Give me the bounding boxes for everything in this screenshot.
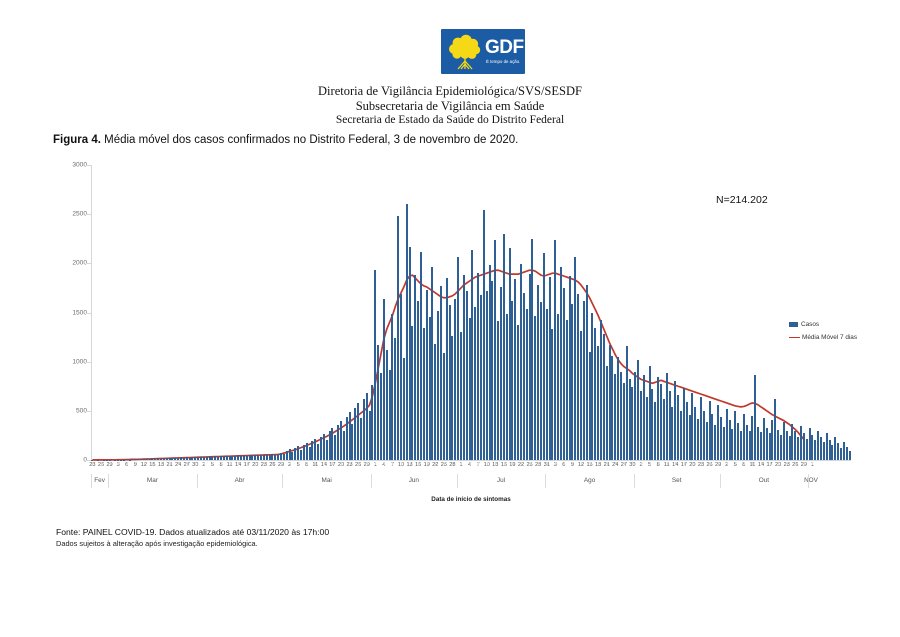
x-tick-mark bbox=[152, 462, 153, 465]
bar bbox=[829, 440, 831, 460]
bar bbox=[429, 317, 431, 460]
month-label-nov: NOV bbox=[804, 477, 818, 484]
bar bbox=[254, 455, 256, 460]
bar bbox=[743, 414, 745, 460]
month-divider bbox=[634, 474, 635, 488]
x-tick-mark bbox=[427, 462, 428, 465]
figure-label: Figura 4. bbox=[53, 134, 101, 146]
x-tick-mark bbox=[332, 462, 333, 465]
x-tick-mark bbox=[341, 462, 342, 465]
bar bbox=[349, 412, 351, 460]
bar bbox=[189, 458, 191, 460]
x-tick-mark bbox=[530, 462, 531, 465]
bar bbox=[400, 294, 402, 460]
x-tick-mark bbox=[127, 462, 128, 465]
source-line-2: Dados sujeitos à alteração após investig… bbox=[56, 538, 329, 549]
month-label-mai: Mai bbox=[322, 477, 332, 484]
org-line-1: Diretoria de Vigilância Epidemiológica/S… bbox=[0, 84, 900, 99]
bar bbox=[820, 437, 822, 460]
bar bbox=[729, 420, 731, 460]
bar bbox=[411, 326, 413, 460]
month-label-set: Set bbox=[672, 477, 682, 484]
bar bbox=[674, 381, 676, 460]
month-label-fev: Fev bbox=[94, 477, 105, 484]
bar bbox=[749, 431, 751, 460]
bar bbox=[454, 299, 456, 460]
bar bbox=[534, 316, 536, 460]
bar bbox=[771, 420, 773, 460]
bar bbox=[837, 443, 839, 460]
x-tick-mark bbox=[710, 462, 711, 465]
x-tick-mark bbox=[452, 462, 453, 465]
y-tick-label-1000: 1000 bbox=[72, 358, 87, 365]
x-tick-mark bbox=[410, 462, 411, 465]
bar bbox=[637, 360, 639, 460]
bar bbox=[146, 459, 148, 460]
y-tick-label-2500: 2500 bbox=[72, 211, 87, 218]
bar bbox=[494, 240, 496, 460]
bar bbox=[251, 455, 253, 460]
x-tick-mark bbox=[247, 462, 248, 465]
x-tick-mark bbox=[512, 462, 513, 465]
bar bbox=[537, 285, 539, 460]
bar bbox=[329, 431, 331, 460]
bar bbox=[657, 377, 659, 460]
bar bbox=[186, 457, 188, 460]
bar bbox=[514, 279, 516, 460]
bar bbox=[394, 338, 396, 460]
bar bbox=[706, 422, 708, 460]
bar bbox=[149, 459, 151, 460]
bar bbox=[774, 399, 776, 460]
x-tick-mark bbox=[272, 462, 273, 465]
bar bbox=[551, 329, 553, 460]
gdf-logo: GDF É tempo de ação. bbox=[441, 29, 525, 74]
bar bbox=[323, 434, 325, 460]
legend-item-casos: Casos bbox=[789, 321, 857, 328]
bar bbox=[469, 318, 471, 460]
month-divider bbox=[371, 474, 372, 488]
x-tick-mark bbox=[255, 462, 256, 465]
bar bbox=[331, 428, 333, 460]
bar bbox=[214, 456, 216, 460]
bar bbox=[286, 451, 288, 460]
bar bbox=[309, 447, 311, 460]
bar bbox=[200, 457, 202, 460]
x-tick-mark bbox=[787, 462, 788, 465]
bar bbox=[843, 442, 845, 460]
month-label-abr: Abr bbox=[235, 477, 245, 484]
x-tick-mark bbox=[812, 462, 813, 465]
bar bbox=[766, 428, 768, 460]
legend-line-swatch-icon bbox=[789, 337, 800, 339]
bar bbox=[374, 270, 376, 460]
bar bbox=[191, 457, 193, 460]
x-tick-mark bbox=[538, 462, 539, 465]
x-tick-mark bbox=[315, 462, 316, 465]
bar bbox=[243, 455, 245, 460]
x-tick-mark bbox=[221, 462, 222, 465]
bar bbox=[126, 459, 128, 460]
bar bbox=[746, 425, 748, 460]
bar bbox=[714, 425, 716, 460]
bar bbox=[694, 407, 696, 460]
x-tick-mark bbox=[264, 462, 265, 465]
bar bbox=[409, 247, 411, 460]
x-tick-mark bbox=[718, 462, 719, 465]
month-label-jun: Jun bbox=[409, 477, 419, 484]
x-tick-mark bbox=[581, 462, 582, 465]
bar bbox=[220, 456, 222, 460]
bar bbox=[560, 267, 562, 460]
bar bbox=[360, 418, 362, 460]
bar bbox=[540, 302, 542, 460]
x-tick-mark bbox=[521, 462, 522, 465]
bar bbox=[740, 431, 742, 461]
bar bbox=[380, 373, 382, 460]
bar bbox=[337, 425, 339, 460]
bar bbox=[346, 417, 348, 460]
x-tick-mark bbox=[727, 462, 728, 465]
figure-title: Figura 4. Média móvel dos casos confirma… bbox=[53, 133, 518, 147]
bar bbox=[846, 447, 848, 460]
bar bbox=[777, 430, 779, 460]
bar bbox=[631, 387, 633, 460]
plot-area bbox=[91, 165, 851, 460]
bar bbox=[809, 428, 811, 460]
x-tick-mark bbox=[461, 462, 462, 465]
bar bbox=[209, 456, 211, 460]
x-tick-mark bbox=[478, 462, 479, 465]
bar bbox=[649, 366, 651, 460]
bar bbox=[154, 459, 156, 460]
bar bbox=[183, 458, 185, 460]
bar bbox=[834, 437, 836, 460]
y-tick-label-2000: 2000 bbox=[72, 260, 87, 267]
legend-bar-swatch-icon bbox=[789, 322, 798, 327]
bar bbox=[800, 426, 802, 460]
bar bbox=[237, 455, 239, 460]
bar bbox=[477, 273, 479, 460]
bar bbox=[283, 454, 285, 460]
bar bbox=[563, 288, 565, 460]
legend-label-casos: Casos bbox=[801, 321, 819, 328]
bar bbox=[257, 455, 259, 460]
bar bbox=[486, 291, 488, 460]
x-tick-mark bbox=[778, 462, 779, 465]
bar bbox=[443, 353, 445, 460]
bar bbox=[831, 445, 833, 460]
bar bbox=[700, 397, 702, 460]
bar bbox=[474, 307, 476, 460]
bar bbox=[194, 457, 196, 460]
bar bbox=[849, 451, 851, 460]
x-tick-mark bbox=[307, 462, 308, 465]
x-tick-mark bbox=[375, 462, 376, 465]
x-tick-mark bbox=[470, 462, 471, 465]
bar bbox=[426, 290, 428, 460]
bar bbox=[554, 240, 556, 460]
bar bbox=[586, 285, 588, 460]
bar bbox=[806, 439, 808, 460]
bar bbox=[326, 440, 328, 460]
x-tick-mark bbox=[110, 462, 111, 465]
bar bbox=[786, 431, 788, 461]
bar bbox=[671, 407, 673, 460]
bar bbox=[686, 402, 688, 460]
bar bbox=[451, 336, 453, 460]
bar bbox=[480, 295, 482, 460]
bar bbox=[223, 456, 225, 460]
bar bbox=[343, 431, 345, 461]
bar bbox=[140, 459, 142, 460]
bar bbox=[840, 448, 842, 460]
logo-brand-text: GDF bbox=[485, 38, 524, 57]
bar bbox=[249, 455, 251, 460]
x-tick-mark bbox=[752, 462, 753, 465]
bar bbox=[571, 304, 573, 460]
bar bbox=[226, 456, 228, 460]
x-tick-mark bbox=[238, 462, 239, 465]
bar bbox=[231, 456, 233, 460]
month-divider bbox=[808, 474, 809, 488]
month-label-jul: Jul bbox=[497, 477, 505, 484]
x-axis-title: Data de início de sintomas bbox=[91, 496, 851, 503]
bar bbox=[717, 405, 719, 460]
x-tick-mark bbox=[598, 462, 599, 465]
bar bbox=[340, 421, 342, 460]
logo-tagline: É tempo de ação. bbox=[486, 59, 520, 65]
bar bbox=[691, 393, 693, 460]
bar bbox=[546, 309, 548, 460]
bar bbox=[417, 301, 419, 460]
month-label-out: Out bbox=[759, 477, 769, 484]
bar bbox=[357, 403, 359, 460]
bar bbox=[143, 459, 145, 460]
x-tick-mark bbox=[632, 462, 633, 465]
x-tick-mark bbox=[675, 462, 676, 465]
x-tick-mark bbox=[744, 462, 745, 465]
bar bbox=[151, 458, 153, 460]
org-line-2: Subsecretaria de Vigilância em Saúde bbox=[0, 99, 900, 114]
bar bbox=[646, 397, 648, 460]
bar bbox=[677, 395, 679, 460]
bar bbox=[549, 277, 551, 460]
month-divider bbox=[545, 474, 546, 488]
bar bbox=[794, 431, 796, 460]
bar bbox=[169, 458, 171, 460]
bar bbox=[640, 391, 642, 460]
bar bbox=[406, 204, 408, 460]
x-tick-mark bbox=[444, 462, 445, 465]
x-tick-mark bbox=[615, 462, 616, 465]
bar bbox=[274, 455, 276, 460]
bar bbox=[580, 331, 582, 460]
bar bbox=[391, 314, 393, 460]
source-line-1: Fonte: PAINEL COVID-19. Dados atualizado… bbox=[56, 527, 329, 538]
bar bbox=[763, 418, 765, 460]
x-tick-mark bbox=[358, 462, 359, 465]
bar bbox=[526, 309, 528, 460]
x-tick-mark bbox=[650, 462, 651, 465]
org-line-3: Secretaria de Estado da Saúde do Distrit… bbox=[0, 113, 900, 128]
bar bbox=[669, 391, 671, 460]
bar bbox=[174, 458, 176, 460]
bar bbox=[431, 267, 433, 460]
bar bbox=[614, 374, 616, 460]
page-root: GDF É tempo de ação. Diretoria de Vigilâ… bbox=[0, 0, 900, 637]
bar bbox=[300, 450, 302, 460]
bar bbox=[314, 439, 316, 460]
bar bbox=[589, 352, 591, 460]
bar bbox=[811, 435, 813, 460]
legend-item-media-movel: Média Móvel 7 dias bbox=[789, 334, 857, 341]
x-tick-mark bbox=[504, 462, 505, 465]
x-tick-mark bbox=[495, 462, 496, 465]
bar bbox=[726, 409, 728, 460]
chart-container: 050010001500200025003000 232629369121518… bbox=[53, 158, 863, 503]
source-note: Fonte: PAINEL COVID-19. Dados atualizado… bbox=[56, 527, 329, 549]
bar bbox=[517, 325, 519, 460]
bar bbox=[814, 440, 816, 460]
x-tick-mark bbox=[641, 462, 642, 465]
bar bbox=[460, 332, 462, 460]
month-divider bbox=[91, 474, 92, 488]
bar bbox=[503, 234, 505, 460]
bar bbox=[594, 328, 596, 460]
x-tick-mark bbox=[804, 462, 805, 465]
bar bbox=[606, 366, 608, 460]
bar bbox=[471, 250, 473, 460]
bar bbox=[383, 299, 385, 460]
bar bbox=[163, 458, 165, 460]
bar bbox=[363, 399, 365, 460]
bar bbox=[229, 456, 231, 460]
bar bbox=[497, 321, 499, 460]
bar bbox=[463, 275, 465, 460]
bar bbox=[760, 432, 762, 460]
x-tick-mark bbox=[701, 462, 702, 465]
bar bbox=[206, 457, 208, 460]
bar bbox=[509, 248, 511, 460]
gdf-tree-logo-icon bbox=[445, 31, 485, 72]
x-tick-mark bbox=[547, 462, 548, 465]
month-label-ago: Ago bbox=[584, 477, 595, 484]
bar bbox=[131, 459, 133, 460]
bar bbox=[386, 350, 388, 460]
x-tick-mark bbox=[435, 462, 436, 465]
y-tick-label-1500: 1500 bbox=[72, 309, 87, 316]
x-tick-mark bbox=[281, 462, 282, 465]
x-tick-mark bbox=[658, 462, 659, 465]
bar bbox=[723, 427, 725, 460]
x-tick-mark bbox=[204, 462, 205, 465]
bar bbox=[157, 458, 159, 460]
bar bbox=[263, 455, 265, 460]
bar bbox=[171, 458, 173, 460]
x-tick-mark bbox=[572, 462, 573, 465]
x-tick-mark bbox=[607, 462, 608, 465]
total-count-annotation: N=214.202 bbox=[716, 194, 768, 206]
bar bbox=[217, 457, 219, 460]
x-tick-mark bbox=[392, 462, 393, 465]
x-tick-mark bbox=[170, 462, 171, 465]
bar bbox=[177, 458, 179, 460]
bar bbox=[511, 301, 513, 460]
bar bbox=[623, 383, 625, 460]
bar bbox=[620, 372, 622, 461]
bar bbox=[389, 370, 391, 460]
bar bbox=[351, 424, 353, 460]
x-tick-mark bbox=[298, 462, 299, 465]
bar bbox=[306, 443, 308, 460]
bar bbox=[663, 399, 665, 460]
legend-label-media-movel: Média Móvel 7 dias bbox=[802, 334, 857, 341]
figure-caption: Média móvel dos casos confirmados no Dis… bbox=[101, 134, 518, 146]
bar bbox=[334, 435, 336, 460]
chart-legend: Casos Média Móvel 7 dias bbox=[789, 321, 857, 347]
y-axis-labels: 050010001500200025003000 bbox=[53, 165, 87, 460]
bar bbox=[823, 442, 825, 460]
bar bbox=[271, 454, 273, 460]
bar bbox=[634, 372, 636, 461]
bar bbox=[160, 459, 162, 460]
x-tick-mark bbox=[187, 462, 188, 465]
bar bbox=[506, 314, 508, 460]
bar bbox=[466, 291, 468, 460]
bar bbox=[569, 276, 571, 460]
bar bbox=[574, 257, 576, 460]
bar bbox=[260, 455, 262, 460]
bar bbox=[783, 422, 785, 460]
bar bbox=[137, 459, 139, 460]
x-tick-mark bbox=[564, 462, 565, 465]
month-divider bbox=[282, 474, 283, 488]
bar bbox=[697, 419, 699, 460]
x-tick-mark bbox=[350, 462, 351, 465]
bar bbox=[369, 411, 371, 460]
bar bbox=[583, 301, 585, 460]
bar bbox=[414, 275, 416, 460]
bar bbox=[731, 429, 733, 460]
bar bbox=[197, 457, 199, 460]
bar bbox=[420, 252, 422, 460]
bar bbox=[291, 452, 293, 460]
bar bbox=[654, 402, 656, 460]
x-tick-mark bbox=[118, 462, 119, 465]
bar bbox=[483, 210, 485, 460]
bar bbox=[789, 436, 791, 460]
bar bbox=[277, 454, 279, 460]
bar bbox=[320, 437, 322, 460]
x-tick-mark bbox=[761, 462, 762, 465]
bar bbox=[397, 216, 399, 460]
x-tick-mark bbox=[101, 462, 102, 465]
bar bbox=[180, 457, 182, 460]
bar bbox=[680, 411, 682, 460]
bar bbox=[666, 373, 668, 460]
bar bbox=[689, 415, 691, 460]
bar bbox=[566, 320, 568, 460]
x-tick-mark bbox=[135, 462, 136, 465]
x-tick-mark bbox=[92, 462, 93, 465]
x-tick-mark bbox=[212, 462, 213, 465]
bar bbox=[711, 414, 713, 460]
bar bbox=[660, 384, 662, 460]
bar bbox=[311, 441, 313, 460]
bar bbox=[709, 401, 711, 460]
x-tick-mark bbox=[178, 462, 179, 465]
